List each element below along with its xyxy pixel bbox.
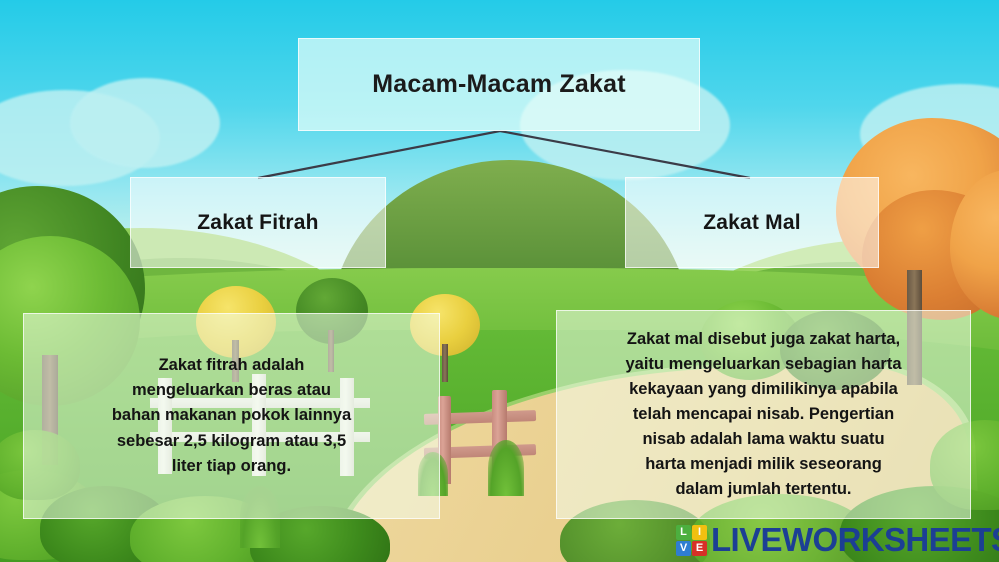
liveworksheets-wordmark: LIVEWORKSHEETS	[711, 521, 999, 559]
description-card-zakat-mal-text: Zakat mal disebut juga zakat harta, yait…	[625, 327, 901, 503]
grass-tuft	[488, 440, 524, 496]
branch-card-zakat-fitrah-label: Zakat Fitrah	[197, 211, 318, 235]
description-card-zakat-fitrah: Zakat fitrah adalah mengeluarkan beras a…	[23, 313, 440, 519]
description-card-zakat-fitrah-text: Zakat fitrah adalah mengeluarkan beras a…	[112, 353, 351, 478]
branch-card-zakat-fitrah: Zakat Fitrah	[130, 177, 386, 268]
liveworksheets-watermark[interactable]: L I V E LIVEWORKSHEETS	[676, 521, 999, 559]
cloud-icon	[70, 78, 220, 168]
branch-card-zakat-mal: Zakat Mal	[625, 177, 879, 268]
logo-tile-e: E	[692, 541, 707, 556]
worksheet-canvas: Macam-Macam Zakat Zakat Fitrah Zakat Mal…	[0, 0, 999, 562]
logo-tile-v: V	[676, 541, 691, 556]
logo-tile-i: I	[692, 525, 707, 540]
description-card-zakat-mal: Zakat mal disebut juga zakat harta, yait…	[556, 310, 971, 519]
liveworksheets-logo-tiles: L I V E	[676, 525, 707, 556]
branch-card-zakat-mal-label: Zakat Mal	[703, 211, 801, 235]
title-card-label: Macam-Macam Zakat	[372, 70, 626, 99]
logo-tile-l: L	[676, 525, 691, 540]
title-card: Macam-Macam Zakat	[298, 38, 700, 131]
tree-trunk	[442, 344, 448, 382]
